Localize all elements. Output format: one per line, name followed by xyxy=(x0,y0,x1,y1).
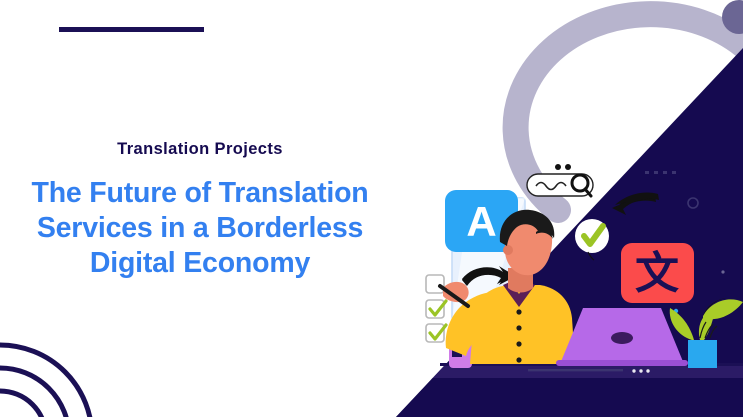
text-block: Translation Projects The Future of Trans… xyxy=(0,140,400,281)
desk-dots xyxy=(632,369,649,372)
page-title: The Future of Translation Services in a … xyxy=(0,176,400,281)
person-ear xyxy=(503,245,513,255)
potted-plant-pot xyxy=(688,340,717,368)
bubble-dot-2 xyxy=(565,164,571,170)
arrow-left-icon-body xyxy=(612,192,659,215)
checkbox-unchecked[interactable] xyxy=(426,275,444,293)
check-circle-tail xyxy=(588,252,594,260)
language-card-chinese-label: 文 xyxy=(635,249,679,298)
slide-canvas: A 文 xyxy=(0,0,743,417)
navy-rule xyxy=(59,27,204,32)
laptop-logo xyxy=(611,332,633,344)
potted-plant-leaf-3 xyxy=(703,299,743,319)
language-card-a-label: A xyxy=(466,198,496,245)
desk-line xyxy=(528,369,623,371)
laptop-base xyxy=(556,360,688,366)
potted-plant-leaf-2 xyxy=(670,308,694,340)
desk-front xyxy=(380,378,743,417)
bubble-dot-1 xyxy=(555,164,561,170)
eyebrow-label: Translation Projects xyxy=(0,140,400,158)
